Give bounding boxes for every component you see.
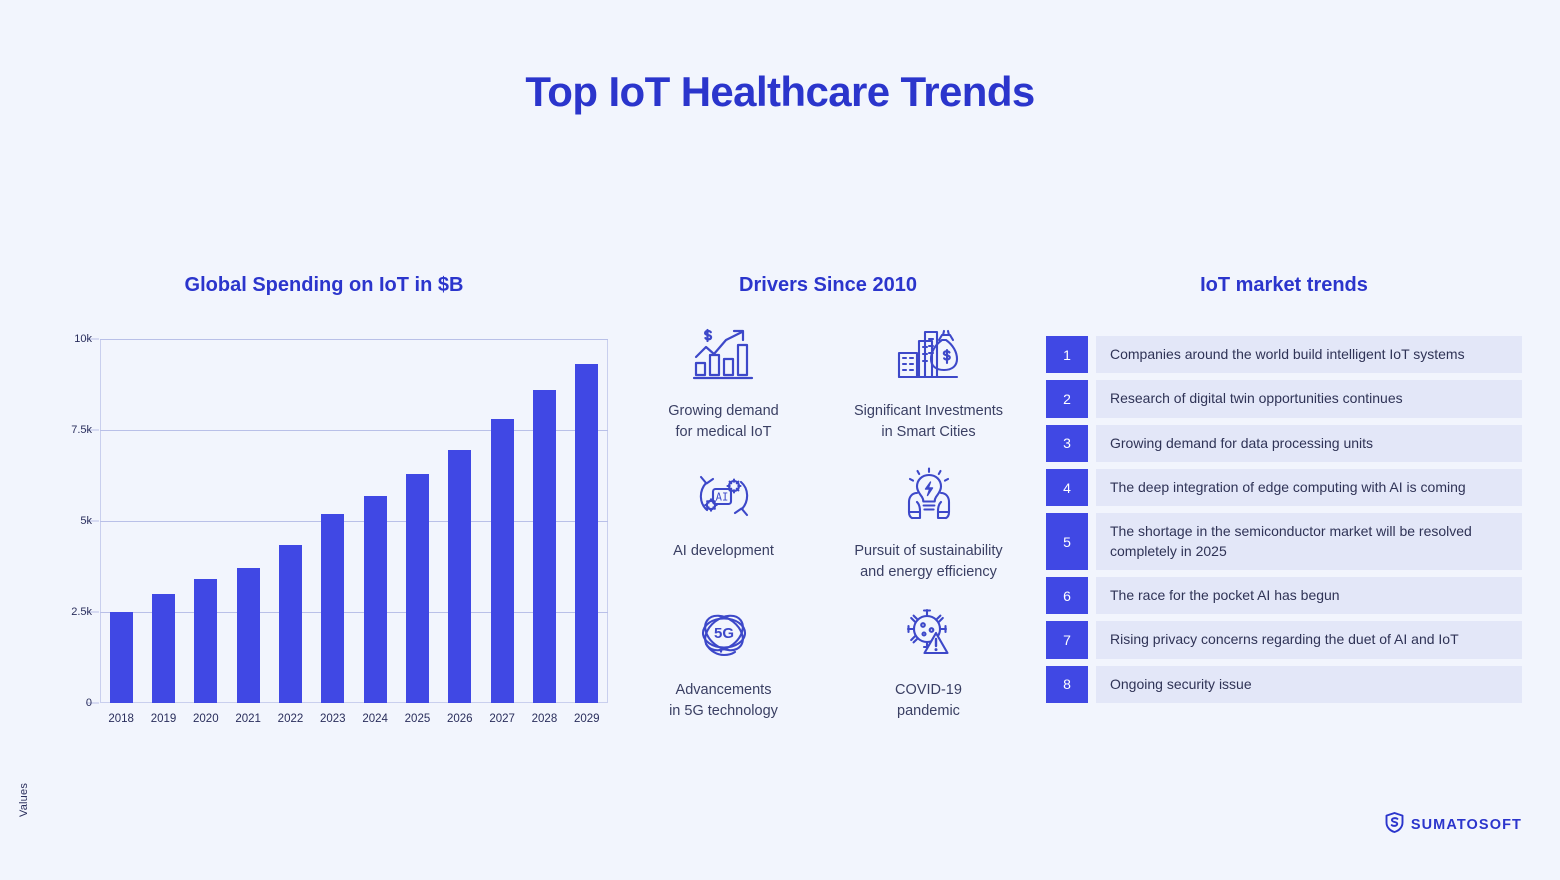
driver-label-line2: in 5G technology xyxy=(669,701,778,722)
x-tick-label: 2019 xyxy=(142,713,184,725)
chart-bar xyxy=(364,496,387,703)
trend-text: Companies around the world build intelli… xyxy=(1096,336,1522,373)
chart-bar xyxy=(575,364,598,703)
trend-row: 2Research of digital twin opportunities … xyxy=(1046,380,1522,417)
page-title: Top IoT Healthcare Trends xyxy=(0,68,1560,116)
chart-bar xyxy=(533,390,556,703)
driver-label: COVID-19pandemic xyxy=(895,680,962,722)
trends-section-heading: IoT market trends xyxy=(1046,274,1522,297)
trend-row: 3Growing demand for data processing unit… xyxy=(1046,425,1522,462)
trend-row: 8Ongoing security issue xyxy=(1046,666,1522,703)
trends-list: 1Companies around the world build intell… xyxy=(1046,336,1522,703)
driver-label-line1: Pursuit of sustainability xyxy=(854,541,1002,562)
x-tick-label: 2022 xyxy=(269,713,311,725)
driver-label: AI development xyxy=(673,541,774,562)
y-tick-label: 2.5k xyxy=(71,606,92,618)
driver-item: Significant Investmentsin Smart Cities xyxy=(829,325,1028,461)
x-tick-label: 2021 xyxy=(227,713,269,725)
trend-number-badge: 3 xyxy=(1046,425,1088,462)
bar-slot xyxy=(566,339,608,703)
driver-label-line1: COVID-19 xyxy=(895,680,962,701)
trend-number-badge: 5 xyxy=(1046,513,1088,570)
trend-row: 1Companies around the world build intell… xyxy=(1046,336,1522,373)
x-tick-label: 2027 xyxy=(481,713,523,725)
chart-x-axis-labels: 2018201920202021202220232024202520262027… xyxy=(100,713,608,725)
chart-bar xyxy=(279,545,302,703)
bar-slot xyxy=(354,339,396,703)
driver-label: Growing demandfor medical IoT xyxy=(668,401,778,443)
x-tick-label: 2024 xyxy=(354,713,396,725)
bar-slot xyxy=(312,339,354,703)
x-tick-label: 2020 xyxy=(185,713,227,725)
trend-number-badge: 7 xyxy=(1046,621,1088,658)
driver-label: Pursuit of sustainabilityand energy effi… xyxy=(854,541,1002,583)
driver-label-line1: Growing demand xyxy=(668,401,778,422)
chart-bar xyxy=(237,568,260,703)
bar-slot xyxy=(523,339,565,703)
chart-section-heading: Global Spending on IoT in $B xyxy=(24,274,624,297)
trend-number-badge: 8 xyxy=(1046,666,1088,703)
trend-number-badge: 2 xyxy=(1046,380,1088,417)
driver-label-line2: pandemic xyxy=(895,701,962,722)
driver-label: Advancementsin 5G technology xyxy=(669,680,778,722)
trend-text: The deep integration of edge computing w… xyxy=(1096,469,1522,506)
bar-slot xyxy=(481,339,523,703)
x-tick-label: 2023 xyxy=(312,713,354,725)
driver-item: COVID-19pandemic xyxy=(829,604,1028,740)
trend-text: Research of digital twin opportunities c… xyxy=(1096,380,1522,417)
driver-label-line2: and energy efficiency xyxy=(854,562,1002,583)
virus-warning-icon xyxy=(898,604,960,666)
drivers-section-heading: Drivers Since 2010 xyxy=(640,274,1016,297)
bar-slot xyxy=(100,339,142,703)
chart-bar xyxy=(110,612,133,703)
chart-bar xyxy=(321,514,344,703)
bar-slot xyxy=(227,339,269,703)
chart-bar xyxy=(152,594,175,703)
bar-slot xyxy=(396,339,438,703)
driver-label-line1: Significant Investments xyxy=(854,401,1003,422)
driver-label-line1: AI development xyxy=(673,541,774,562)
svg-text:5G: 5G xyxy=(713,625,733,642)
trend-text: The race for the pocket AI has begun xyxy=(1096,577,1522,614)
driver-item: 5G Advancementsin 5G technology xyxy=(624,604,823,740)
smart-city-money-bag-icon xyxy=(895,325,963,387)
x-tick-label: 2028 xyxy=(523,713,565,725)
x-tick-label: 2018 xyxy=(100,713,142,725)
trend-row: 4The deep integration of edge computing … xyxy=(1046,469,1522,506)
svg-text:AI: AI xyxy=(715,491,728,503)
chart-bar xyxy=(491,419,514,703)
trend-row: 6The race for the pocket AI has begun xyxy=(1046,577,1522,614)
driver-item: Pursuit of sustainabilityand energy effi… xyxy=(829,465,1028,601)
x-tick-label: 2026 xyxy=(439,713,481,725)
y-tick-label: 0 xyxy=(86,697,92,709)
driver-label-line1: Advancements xyxy=(669,680,778,701)
y-tick-label: 7.5k xyxy=(71,424,92,436)
bar-slot xyxy=(142,339,184,703)
infographic-page: Top IoT Healthcare Trends Global Spendin… xyxy=(0,0,1560,880)
bar-slot xyxy=(185,339,227,703)
chart-bar xyxy=(406,474,429,703)
driver-label: Significant Investmentsin Smart Cities xyxy=(854,401,1003,443)
x-tick-label: 2029 xyxy=(566,713,608,725)
bar-slot xyxy=(269,339,311,703)
trend-text: The shortage in the semiconductor market… xyxy=(1096,513,1522,570)
growth-chart-dollar-icon xyxy=(690,325,758,387)
trend-text: Ongoing security issue xyxy=(1096,666,1522,703)
trend-row: 5The shortage in the semiconductor marke… xyxy=(1046,513,1522,570)
drivers-grid: Growing demandfor medical IoT Significan… xyxy=(624,325,1028,740)
driver-item: Growing demandfor medical IoT xyxy=(624,325,823,461)
chart-bars xyxy=(100,339,608,703)
hands-lightbulb-energy-icon xyxy=(897,465,961,527)
y-axis-title: Values xyxy=(18,783,30,817)
ai-chip-cycle-icon: AI xyxy=(692,465,756,527)
y-tick-label: 10k xyxy=(74,333,92,345)
sumatosoft-shield-icon xyxy=(1385,812,1404,838)
trend-text: Rising privacy concerns regarding the du… xyxy=(1096,621,1522,658)
trend-number-badge: 1 xyxy=(1046,336,1088,373)
trend-text: Growing demand for data processing units xyxy=(1096,425,1522,462)
logo-wordmark: SUMATOSOFT xyxy=(1411,817,1522,833)
x-tick-label: 2025 xyxy=(396,713,438,725)
chart-bar xyxy=(448,450,471,703)
driver-label-line2: in Smart Cities xyxy=(854,422,1003,443)
driver-item: AI AI development xyxy=(624,465,823,601)
bar-slot xyxy=(439,339,481,703)
five-g-globe-icon: 5G xyxy=(690,604,758,666)
trend-number-badge: 4 xyxy=(1046,469,1088,506)
y-tick-label: 5k xyxy=(80,515,92,527)
sumatosoft-logo: SUMATOSOFT xyxy=(1385,812,1522,838)
trend-number-badge: 6 xyxy=(1046,577,1088,614)
chart-bar xyxy=(194,579,217,703)
spending-bar-chart: Values 02.5k5k7.5k10k 201820192020202120… xyxy=(24,325,624,735)
trend-row: 7Rising privacy concerns regarding the d… xyxy=(1046,621,1522,658)
driver-label-line2: for medical IoT xyxy=(668,422,778,443)
